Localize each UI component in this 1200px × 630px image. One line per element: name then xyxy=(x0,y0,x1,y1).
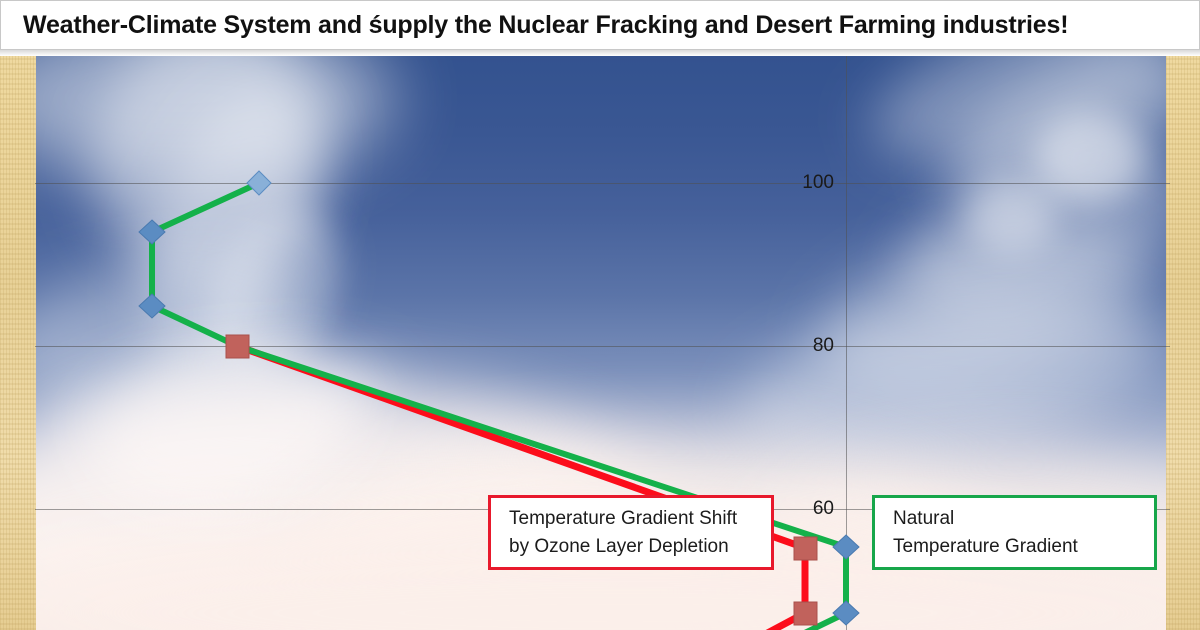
callout-natural-temperature-gradient[interactable]: Natural Temperature Gradient xyxy=(872,495,1157,570)
callout-shift-line2: by Ozone Layer Depletion xyxy=(509,533,771,561)
marker-diamond-natural-3 xyxy=(139,294,165,318)
slide-body: 100 80 60 40 xyxy=(0,53,1200,630)
marker-square-shifted-2 xyxy=(794,537,817,560)
marker-diamond-natural-1 xyxy=(247,171,271,195)
marker-square-shifted-1 xyxy=(226,335,249,358)
callout-shift-line1: Temperature Gradient Shift xyxy=(509,505,771,533)
slide-edge-left xyxy=(0,53,36,630)
marker-square-shifted-3 xyxy=(794,602,817,625)
slide-title-bar: Weather-Climate System and śupply the Nu… xyxy=(0,0,1200,50)
marker-diamond-natural-2 xyxy=(139,220,165,244)
slide-root: Weather-Climate System and śupply the Nu… xyxy=(0,0,1200,630)
callout-natural-line1: Natural xyxy=(893,505,1154,533)
series-line-shifted xyxy=(237,346,805,630)
callout-natural-line2: Temperature Gradient xyxy=(893,533,1154,561)
page-title: Weather-Climate System and śupply the Nu… xyxy=(1,11,1068,40)
callout-temperature-gradient-shift[interactable]: Temperature Gradient Shift by Ozone Laye… xyxy=(488,495,774,570)
marker-diamond-natural-4 xyxy=(833,535,859,559)
slide-edge-right xyxy=(1166,53,1200,630)
title-shadow-divider xyxy=(0,50,1200,56)
marker-diamond-natural-5 xyxy=(833,601,859,625)
